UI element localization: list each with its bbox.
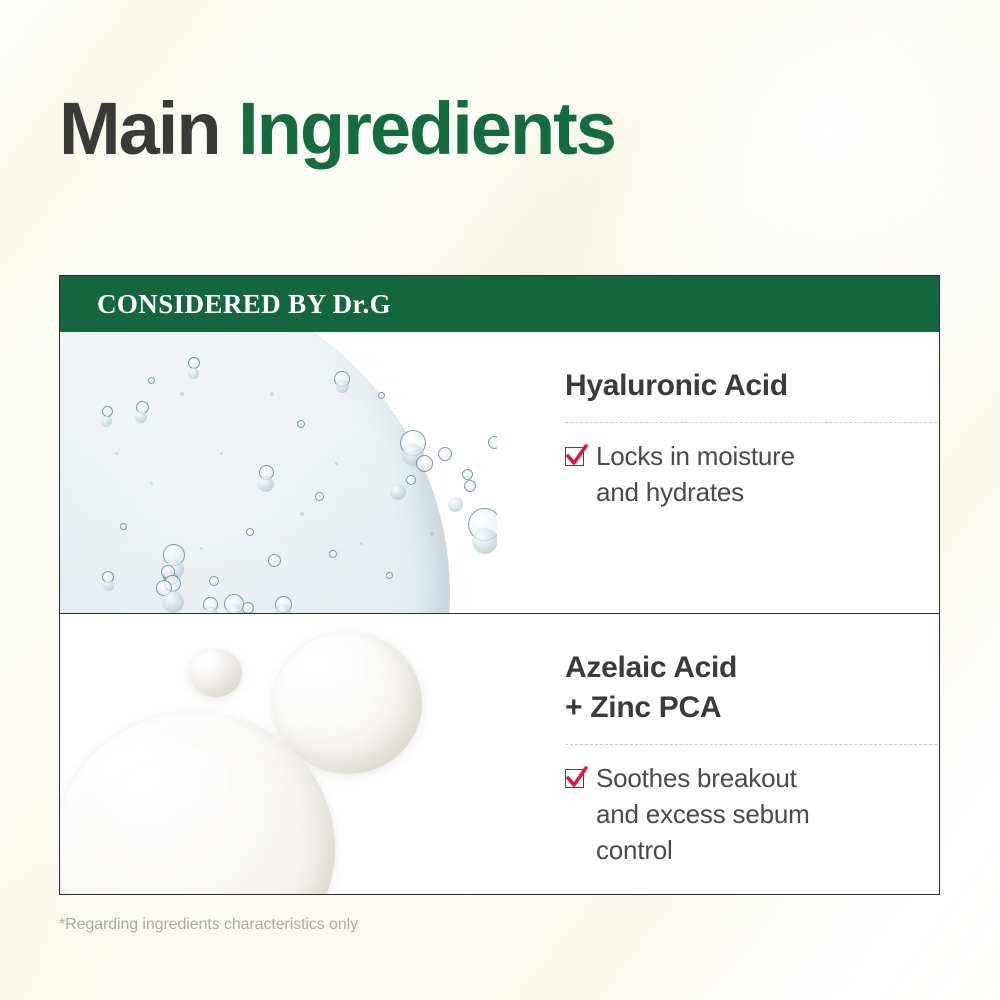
gel-speck (150, 482, 153, 485)
gel-bubble (336, 380, 349, 393)
gel-speck (180, 392, 184, 396)
ingredient-benefit-text: Soothes breakout and excess sebum contro… (596, 761, 810, 869)
checkbox-checked-icon (565, 447, 584, 466)
page-title-word-main: Main (59, 87, 220, 170)
gel-bubble (101, 416, 112, 427)
ingredient-row-azelaic-acid: Azelaic Acid + Zinc PCA Soothes breakout… (60, 613, 939, 895)
ingredient-content-azelaic-acid: Azelaic Acid + Zinc PCA Soothes breakout… (497, 614, 939, 895)
gel-speck (360, 542, 363, 545)
gel-speck (115, 452, 118, 455)
ingredient-name: Hyaluronic Acid (565, 366, 939, 406)
gel-bubble (148, 377, 155, 384)
gel-speck (200, 547, 203, 550)
gel-bubble (315, 492, 324, 501)
dashed-divider (565, 744, 939, 745)
ingredients-infographic: Main Ingredients CONSIDERED BY Dr.G (0, 0, 1000, 1000)
ingredient-row-hyaluronic-acid: Hyaluronic Acid Locks in moisture and hy… (60, 332, 939, 613)
ingredient-content-hyaluronic-acid: Hyaluronic Acid Locks in moisture and hy… (497, 332, 939, 613)
gel-bubble (329, 550, 337, 558)
gel-bubble (390, 484, 406, 500)
droplet-small (190, 649, 242, 697)
gel-speck (430, 532, 434, 536)
footnote: *Regarding ingredients characteristics o… (59, 916, 358, 934)
gel-speck (300, 512, 304, 516)
gel-bubble (472, 528, 497, 554)
gel-bubble (258, 476, 274, 492)
ingredient-name: Azelaic Acid + Zinc PCA (565, 648, 939, 728)
gel-bubble (135, 411, 147, 423)
card-header-bar: CONSIDERED BY Dr.G (60, 276, 939, 332)
droplet-medium (274, 632, 422, 774)
page-title: Main Ingredients (59, 92, 615, 166)
ingredient-image-azelaic-acid (60, 614, 497, 895)
gel-bubble (297, 420, 305, 428)
gel-bubble (120, 523, 127, 530)
gel-bubble (103, 580, 114, 591)
gel-bubble (209, 576, 219, 586)
gel-bubble (488, 436, 497, 449)
dashed-divider (565, 422, 939, 423)
gel-bubble (448, 497, 463, 512)
ingredient-image-hyaluronic-acid (60, 332, 497, 613)
gel-bubble (276, 604, 291, 613)
ingredient-benefit: Locks in moisture and hydrates (565, 439, 939, 511)
gel-bubble (268, 554, 281, 567)
gel-bubble (438, 447, 452, 461)
card-header-label: CONSIDERED BY Dr.G (97, 289, 391, 320)
gel-bubble (378, 392, 385, 399)
gel-bubble (416, 455, 433, 472)
gel-bubble (188, 368, 199, 379)
ingredients-card: CONSIDERED BY Dr.G (59, 275, 940, 895)
gel-bubble (462, 469, 473, 480)
gel-speck (220, 452, 223, 455)
gel-bubble (162, 591, 184, 613)
gel-bubble (406, 475, 416, 485)
page-title-word-ingredients: Ingredients (238, 87, 615, 170)
gel-speck (335, 462, 338, 465)
gel-bubble (386, 572, 393, 579)
gel-bubble (464, 480, 476, 492)
ingredient-rows: Hyaluronic Acid Locks in moisture and hy… (60, 332, 939, 895)
checkbox-checked-icon (565, 769, 584, 788)
ingredient-benefit: Soothes breakout and excess sebum contro… (565, 761, 939, 869)
gel-speck (270, 392, 274, 396)
ingredient-benefit-text: Locks in moisture and hydrates (596, 439, 795, 511)
gel-bubble (246, 528, 254, 536)
